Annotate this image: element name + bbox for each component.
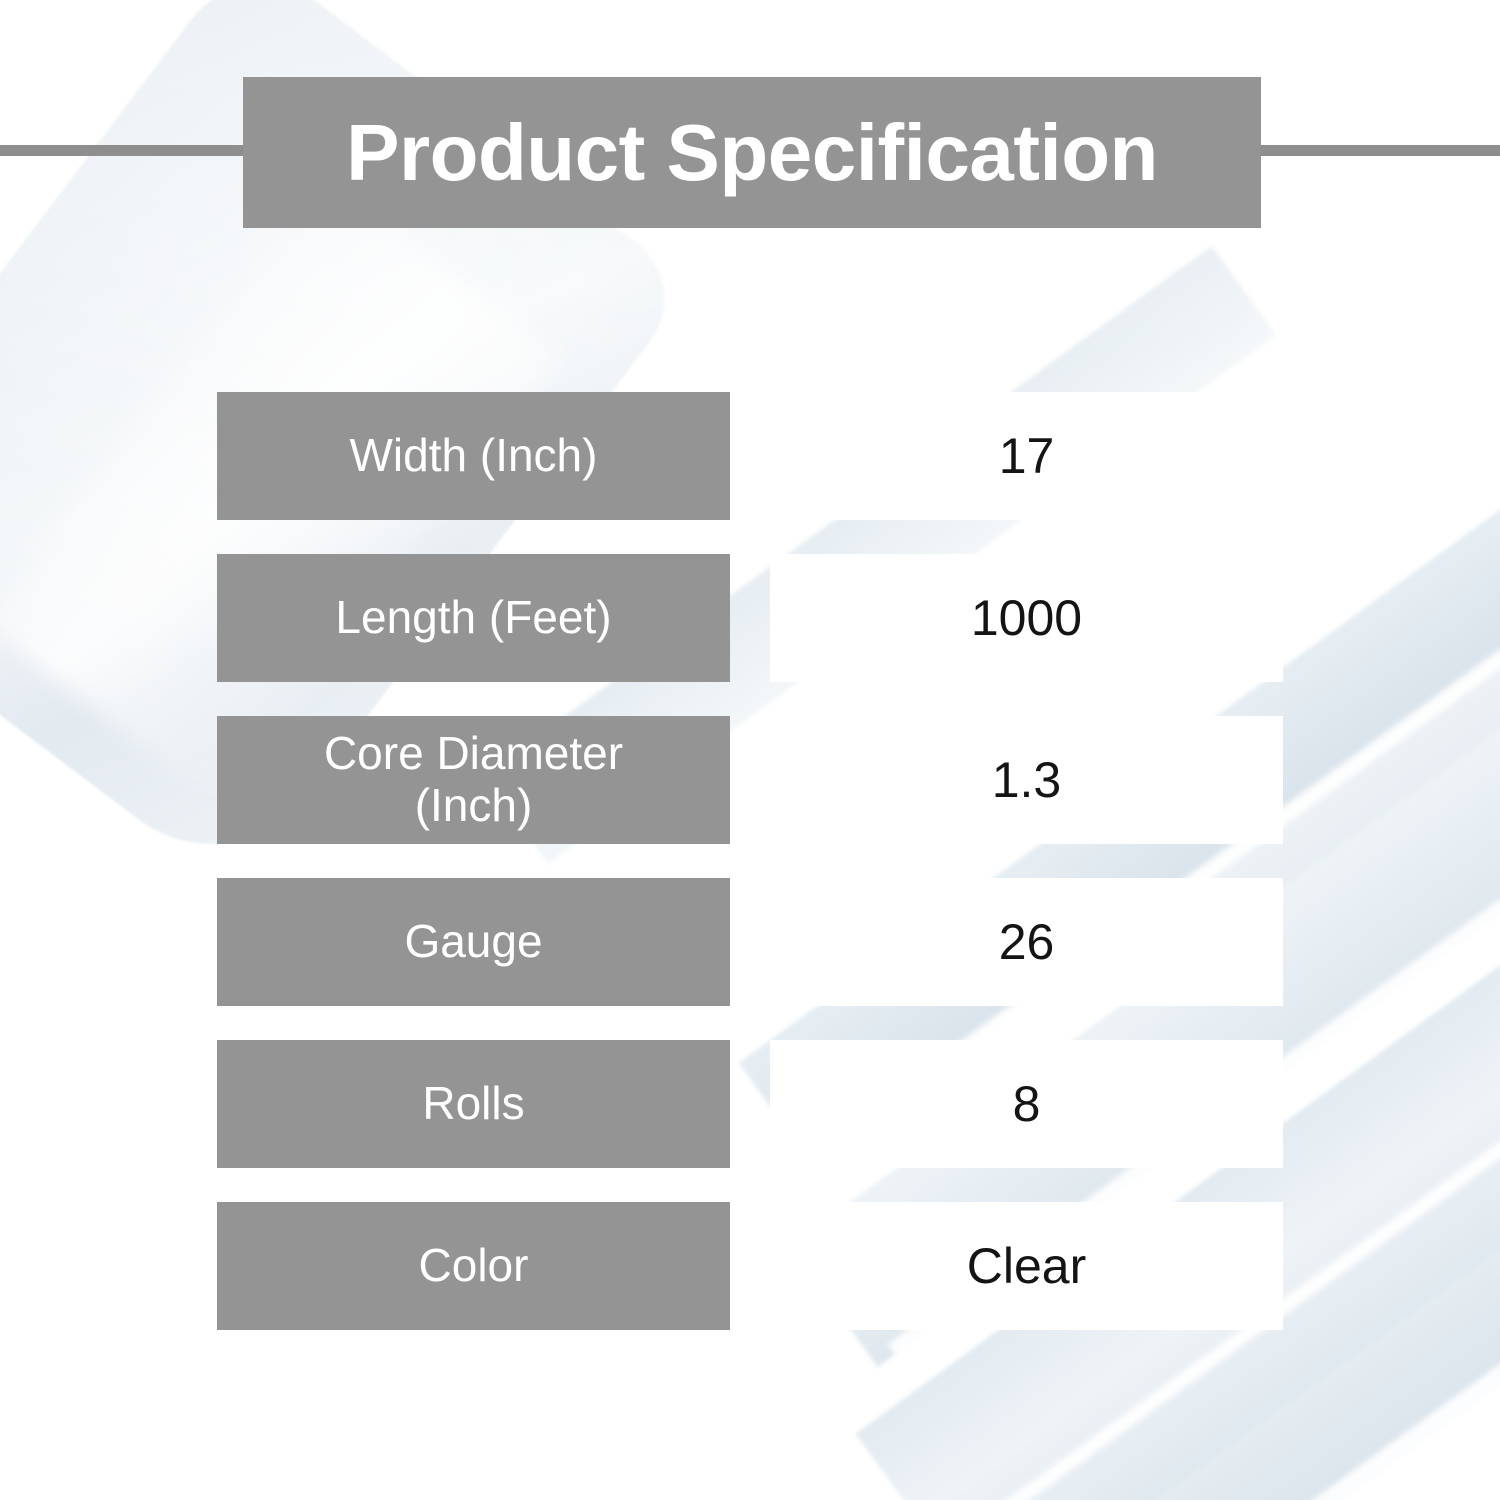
spec-value-text: 1.3 — [992, 755, 1062, 805]
spec-value-cell-color: Clear — [770, 1202, 1283, 1330]
spec-label-cell-color: Color — [217, 1202, 730, 1330]
spec-label-text: Rolls — [422, 1078, 524, 1130]
page-title: Product Specification — [346, 113, 1158, 193]
spec-label-cell-rolls: Rolls — [217, 1040, 730, 1168]
spec-value-cell-width: 17 — [770, 392, 1283, 520]
spec-value-text: 26 — [999, 917, 1055, 967]
spec-value-cell-rolls: 8 — [770, 1040, 1283, 1168]
spec-label-cell-gauge: Gauge — [217, 878, 730, 1006]
product-specification-infographic: Product Specification Width (Inch) 17 Le… — [0, 0, 1500, 1500]
spec-label-text: Gauge — [404, 916, 542, 968]
table-row: Core Diameter (Inch) 1.3 — [0, 716, 1500, 844]
table-row: Width (Inch) 17 — [0, 392, 1500, 520]
spec-value-text: 8 — [1013, 1079, 1041, 1129]
spec-label-text: Core Diameter (Inch) — [324, 728, 623, 831]
title-banner: Product Specification — [243, 77, 1261, 228]
table-row: Rolls 8 — [0, 1040, 1500, 1168]
spec-label-cell-core-diameter: Core Diameter (Inch) — [217, 716, 730, 844]
table-row: Gauge 26 — [0, 878, 1500, 1006]
spec-value-text: 1000 — [971, 593, 1082, 643]
spec-label-text: Color — [419, 1240, 529, 1292]
spec-label-cell-width: Width (Inch) — [217, 392, 730, 520]
spec-label-cell-length: Length (Feet) — [217, 554, 730, 682]
spec-label-text: Width (Inch) — [350, 430, 598, 482]
spec-value-cell-length: 1000 — [770, 554, 1283, 682]
table-row: Length (Feet) 1000 — [0, 554, 1500, 682]
table-row: Color Clear — [0, 1202, 1500, 1330]
spec-value-cell-core-diameter: 1.3 — [770, 716, 1283, 844]
spec-value-text: Clear — [967, 1241, 1086, 1291]
spec-value-text: 17 — [999, 431, 1055, 481]
specification-table: Width (Inch) 17 Length (Feet) 1000 Core … — [0, 392, 1500, 1330]
spec-label-text: Length (Feet) — [335, 592, 611, 644]
spec-value-cell-gauge: 26 — [770, 878, 1283, 1006]
